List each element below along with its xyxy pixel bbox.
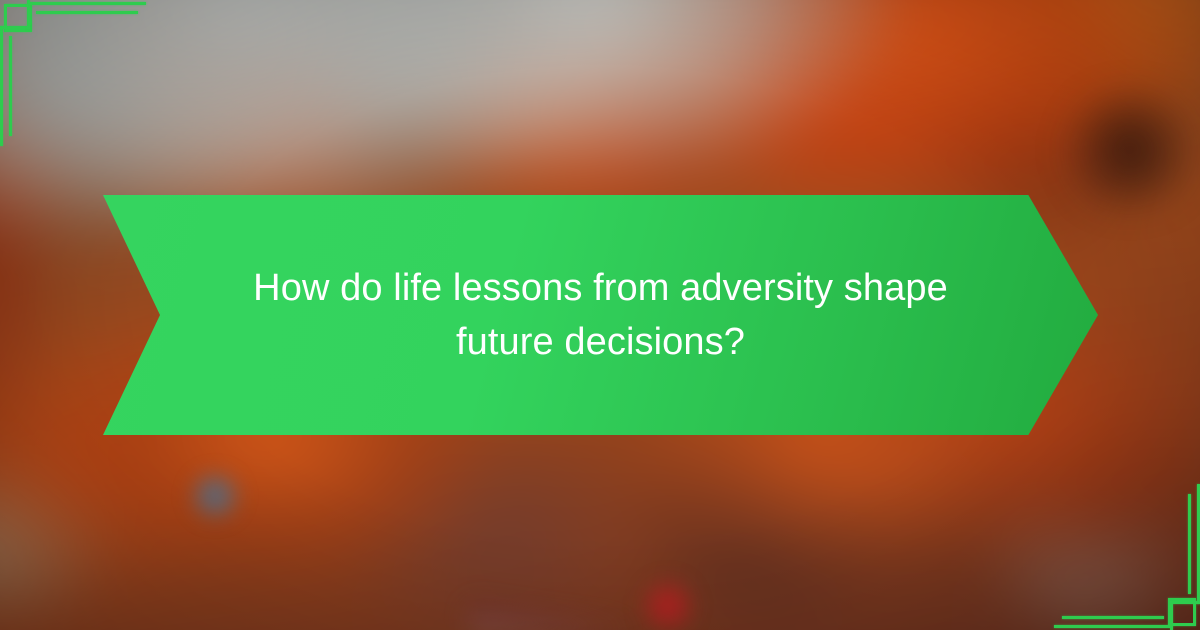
bracket-elbow-horizontal: [0, 26, 30, 29]
question-banner: How do life lessons from adversity shape…: [103, 195, 1098, 435]
bracket-elbow-vertical: [1170, 601, 1173, 630]
bracket-horizontal-line-outer: [1054, 625, 1170, 628]
bracket-elbow-horizontal: [1170, 601, 1200, 604]
banner-line-2: future decisions?: [456, 315, 745, 369]
banner-line-1: How do life lessons from adversity shape: [253, 261, 948, 315]
bracket-horizontal-line-inner: [36, 11, 138, 14]
corner-bracket-bottom-right: [1040, 470, 1200, 630]
bracket-vertical-line-inner: [9, 36, 12, 136]
bracket-vertical-line-outer: [0, 26, 3, 146]
banner-text-block: How do life lessons from adversity shape…: [103, 195, 1098, 435]
bracket-horizontal-line-outer: [30, 2, 146, 5]
bracket-horizontal-line-inner: [1062, 616, 1164, 619]
corner-bracket-top-left: [0, 0, 160, 160]
bracket-vertical-line-inner: [1188, 494, 1191, 594]
poster-canvas: How do life lessons from adversity shape…: [0, 0, 1200, 630]
